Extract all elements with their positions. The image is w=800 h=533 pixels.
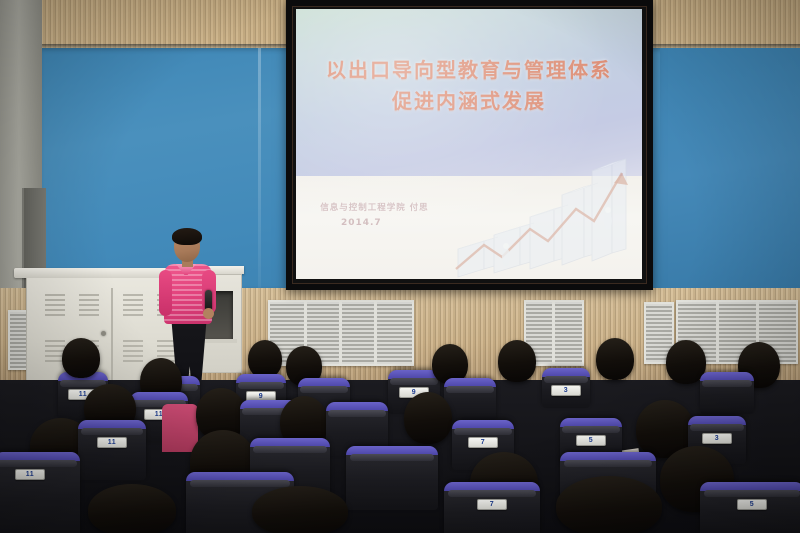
seat-headrest-bar xyxy=(454,428,511,435)
slide-title-line1: 以出口导向型教育与管理体系 xyxy=(296,55,642,86)
seat-number: 3 xyxy=(702,433,732,444)
table-row[interactable]: 7 xyxy=(444,482,540,533)
seat-headrest-bar xyxy=(446,386,494,393)
seat-headrest-bar xyxy=(564,460,652,467)
seat-headrest-bar xyxy=(448,490,536,497)
seat-headrest-bar xyxy=(190,480,289,487)
audience-pink-shirt xyxy=(162,404,198,452)
seat-headrest-bar xyxy=(544,376,588,383)
audience-head xyxy=(248,340,282,378)
seat-headrest-bar xyxy=(0,460,77,467)
seat-headrest-bar xyxy=(562,426,619,433)
audience-head xyxy=(252,486,348,533)
seat-number: 5 xyxy=(737,499,767,510)
slide-title: 以出口导向型教育与管理体系 促进内涵式发展 xyxy=(296,55,642,117)
seat-number: 3 xyxy=(551,385,581,396)
seat-headrest-bar xyxy=(328,410,385,417)
projected-slide: 以出口导向型教育与管理体系 促进内涵式发展 信息与控制工程学院 付思 2014.… xyxy=(296,9,642,279)
presenter-hand xyxy=(203,308,214,319)
seat-headrest-bar xyxy=(81,428,144,435)
audience-head xyxy=(596,338,634,380)
seat-headrest-bar xyxy=(690,424,743,431)
growth-bar-chart-graphic xyxy=(450,129,640,279)
audience-head xyxy=(62,338,100,378)
seat-headrest-bar xyxy=(390,378,438,385)
audience-head xyxy=(498,340,536,382)
seat-number: 11 xyxy=(97,437,127,448)
lectern-vent-slots xyxy=(45,294,65,318)
table-row[interactable] xyxy=(346,446,438,510)
seat-headrest-bar xyxy=(704,490,800,497)
seat-headrest-bar xyxy=(350,454,435,461)
lectern-vent-slots xyxy=(123,294,143,318)
slide-title-line2: 促进内涵式发展 xyxy=(296,86,642,117)
seat-headrest-bar xyxy=(300,386,348,393)
lectern-vent-slots xyxy=(79,294,99,318)
table-row[interactable]: 11 xyxy=(78,420,146,480)
seat-number: 7 xyxy=(468,437,498,448)
seat-number: 11 xyxy=(15,469,45,480)
table-row[interactable]: 11 xyxy=(0,452,80,533)
lectern-door-handle[interactable] xyxy=(101,331,106,336)
seat-headrest-bar xyxy=(238,382,284,389)
blue-acoustic-panel-right xyxy=(660,48,800,288)
seat-headrest-bar xyxy=(253,446,327,453)
table-row[interactable]: 3 xyxy=(542,368,590,408)
lecture-hall-photo: 以出口导向型教育与管理体系 促进内涵式发展 信息与控制工程学院 付思 2014.… xyxy=(0,0,800,533)
projection-screen-frame: 以出口导向型教育与管理体系 促进内涵式发展 信息与控制工程学院 付思 2014.… xyxy=(286,0,653,290)
seat-number: 5 xyxy=(576,435,606,446)
table-row[interactable] xyxy=(700,372,754,414)
audience-head xyxy=(556,476,662,533)
presenter-hair xyxy=(172,228,202,245)
audience-head xyxy=(404,392,452,444)
seat-headrest-bar xyxy=(702,380,752,387)
lectern-door-seam xyxy=(111,288,113,393)
presenter-left-arm xyxy=(159,270,172,316)
slide-affiliation: 信息与控制工程学院 付思 xyxy=(320,201,428,213)
table-row[interactable]: 5 xyxy=(700,482,800,533)
slide-date: 2014.7 xyxy=(341,218,382,228)
seat-number: 7 xyxy=(477,499,507,510)
audience-head xyxy=(88,484,176,533)
lectern-vent-slots xyxy=(123,340,143,364)
